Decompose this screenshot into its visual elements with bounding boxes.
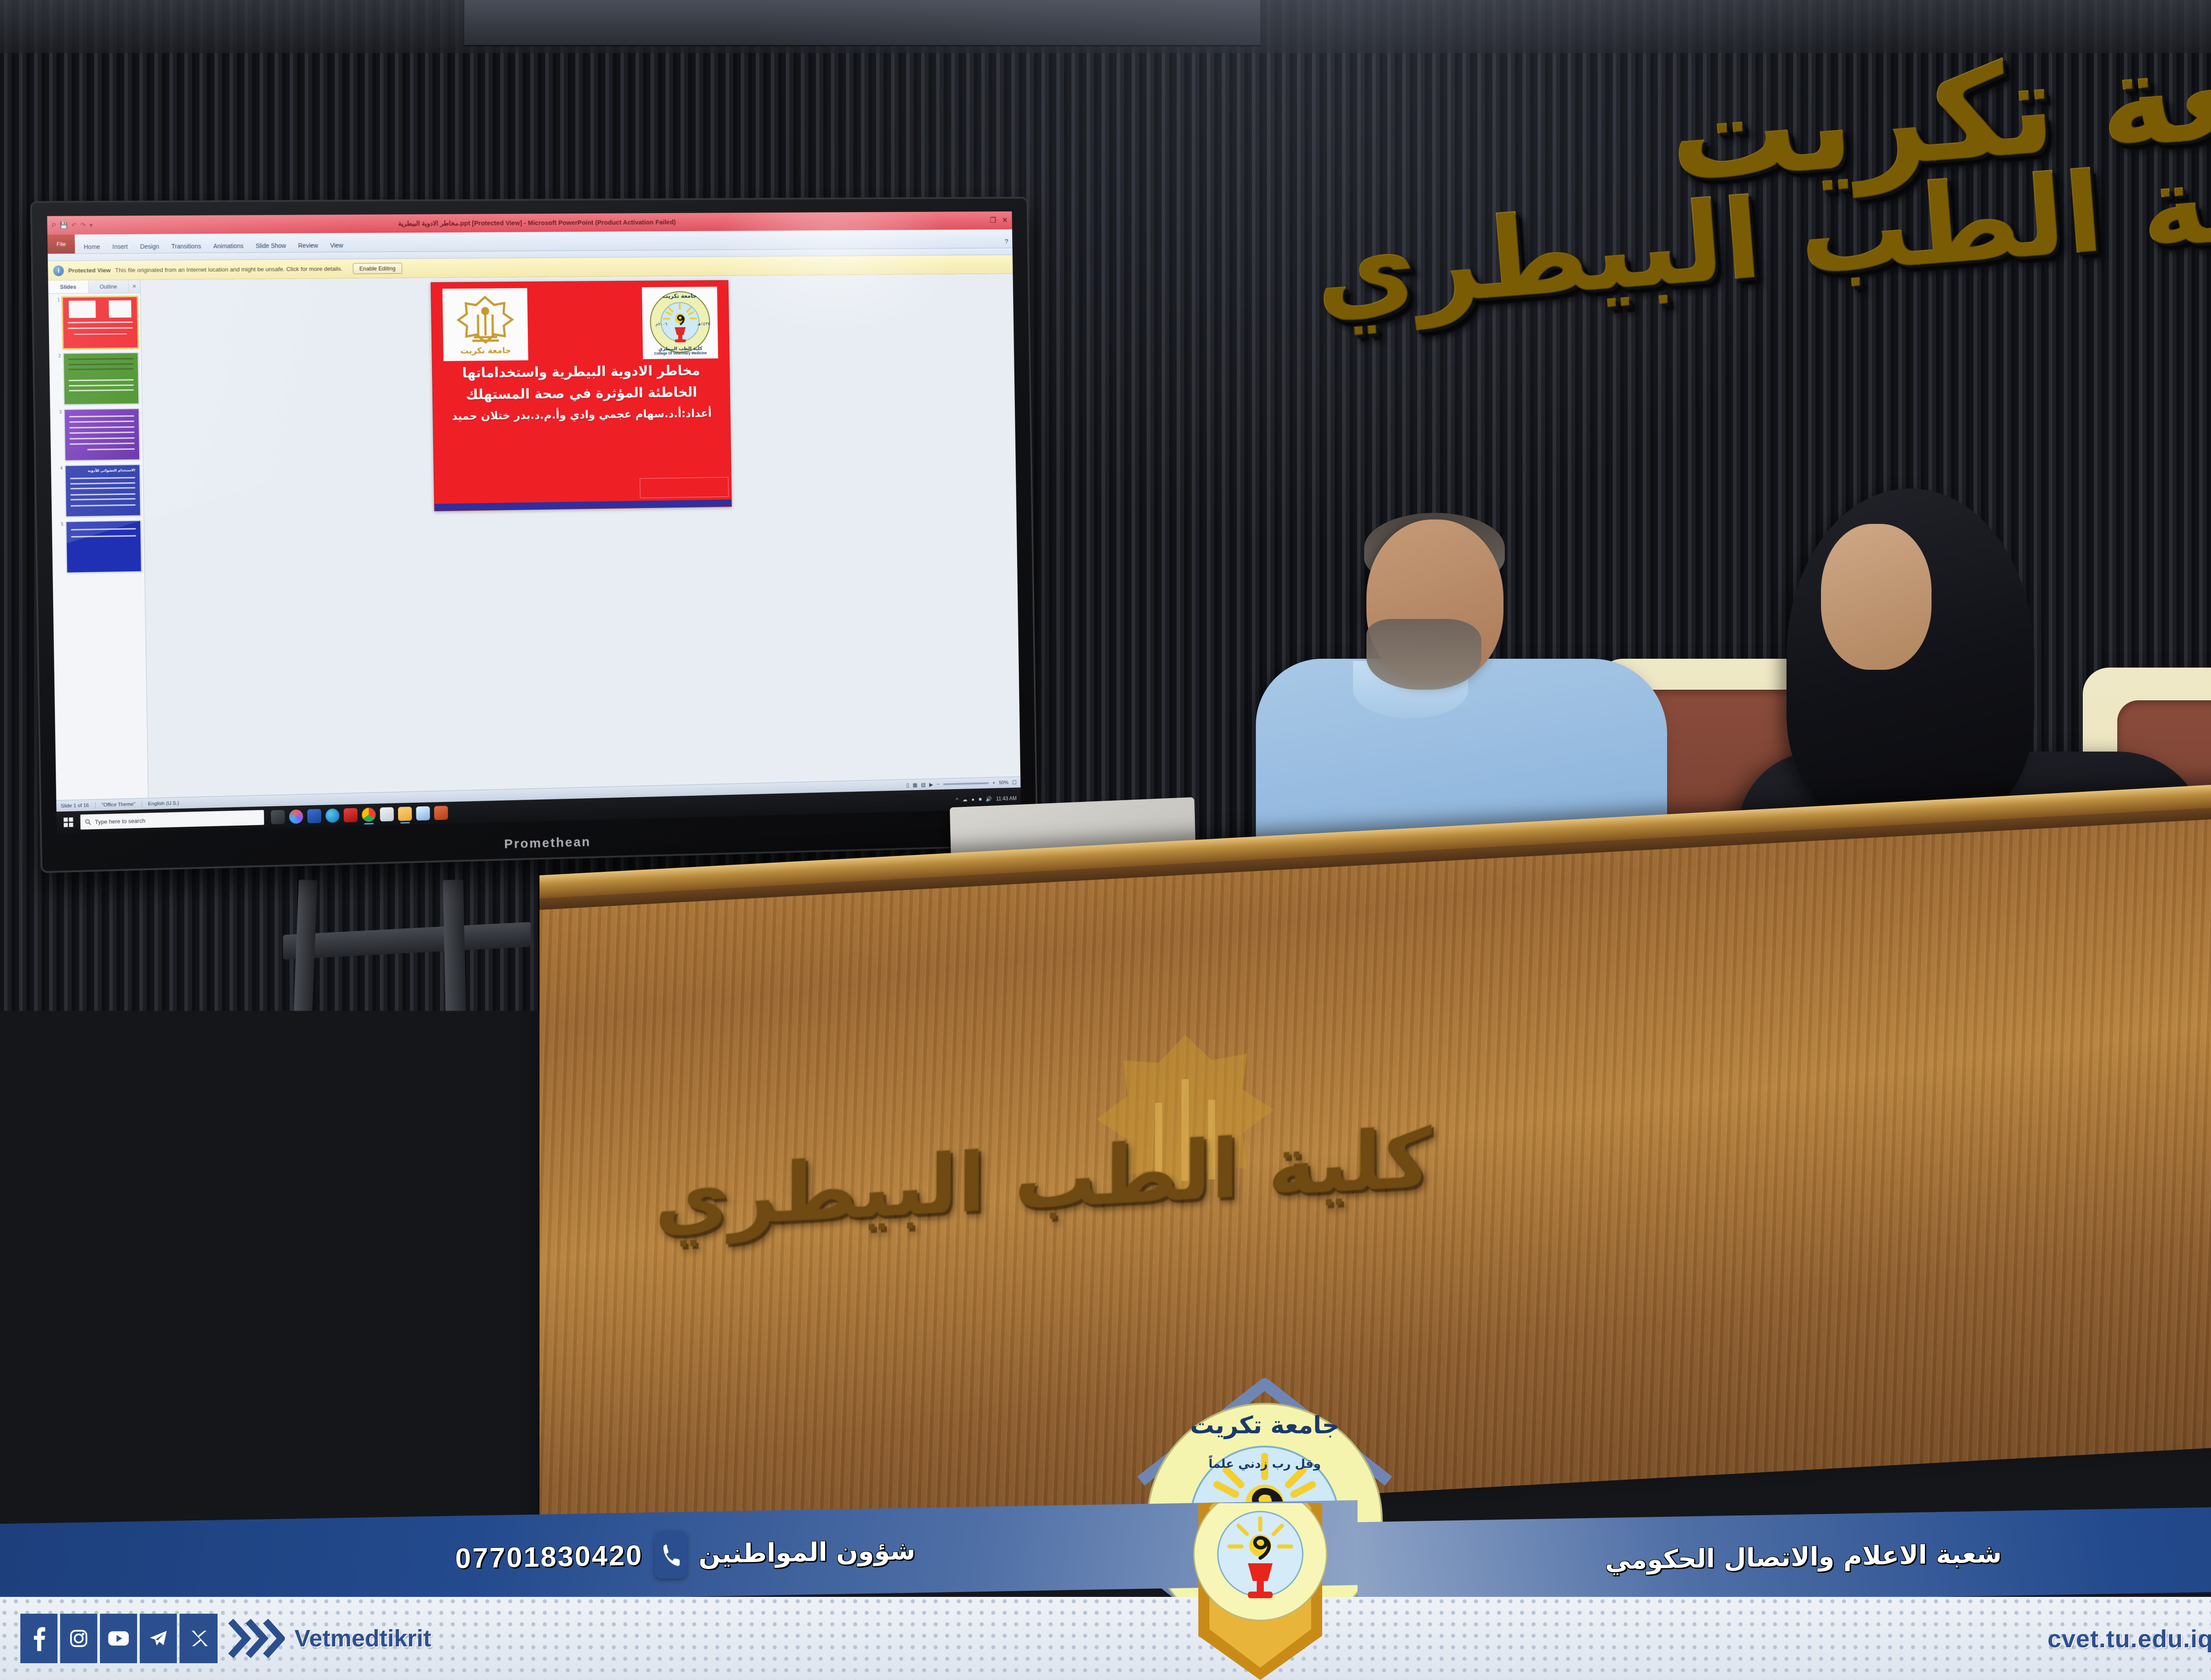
settings-app-icon[interactable]	[416, 806, 430, 821]
save-icon[interactable]: 💾	[60, 221, 68, 229]
tab-outline[interactable]: Outline	[88, 280, 129, 293]
store-icon[interactable]	[380, 807, 394, 821]
footer-seal	[1136, 1503, 1384, 1680]
tab-slide-show[interactable]: Slide Show	[254, 241, 288, 250]
help-icon[interactable]: ?	[1005, 238, 1012, 248]
seal-university-text: جامعة تكريت	[1190, 1411, 1339, 1439]
list-item[interactable]: 4 الاستخدام العشوائي للأدوية	[58, 464, 141, 517]
zoom-slider[interactable]	[943, 782, 989, 785]
ceiling-panel	[464, 0, 1260, 46]
slide-logo-row: جامعة تكريت	[431, 281, 729, 361]
promethean-display: P 💾 ↶ ↷ ▾ مخاطر الادوية البيطرية.ppt [Pr…	[30, 197, 1038, 873]
thumbnail-number: 4	[58, 465, 62, 471]
show-hidden-icons[interactable]: ^	[956, 797, 958, 803]
list-item[interactable]: 2	[56, 352, 139, 405]
facebook-icon[interactable]	[20, 1614, 58, 1663]
file-explorer-icon[interactable]	[398, 807, 412, 821]
antivirus-icon[interactable]: ●	[972, 796, 975, 802]
media-office-label: شعبة الاعلام والاتصال الحكومي	[1605, 1539, 2002, 1576]
phone-number[interactable]: 07701830420	[455, 1539, 643, 1574]
network-icon[interactable]: ■	[979, 796, 982, 802]
powerpoint-window[interactable]: P 💾 ↶ ↷ ▾ مخاطر الادوية البيطرية.ppt [Pr…	[47, 211, 1021, 834]
phone-icon	[654, 1531, 687, 1579]
normal-view-icon[interactable]: ▯	[907, 782, 909, 788]
task-view-icon[interactable]	[271, 810, 285, 825]
instagram-icon[interactable]	[60, 1614, 98, 1663]
thumbnail-slide-1[interactable]	[62, 296, 138, 349]
svg-text:College Of Veterinary Medicine: College Of Veterinary Medicine	[654, 351, 707, 355]
status-right-group[interactable]: ▯ ▦ ▤ ▶ − + 50% ☐	[907, 779, 1017, 788]
photo-scene: جامعة تكريت كلية الطب البيطري P 💾 ↶ ↷	[0, 0, 2211, 1680]
thumbnail-number: 1	[55, 297, 60, 303]
window-title: مخاطر الادوية البيطرية.ppt [Protected Vi…	[47, 217, 1012, 229]
thumbnail-slide-3[interactable]	[64, 408, 140, 461]
enable-editing-button[interactable]: Enable Editing	[353, 263, 402, 274]
powerpoint-workspace: Slides Outline × 1	[48, 274, 1021, 800]
svg-text:٢٠٠٦م: ٢٠٠٦م	[655, 322, 667, 327]
thumbnail-slide-4[interactable]: الاستخدام العشوائي للأدوية	[65, 464, 141, 517]
male-presenter-beard	[1366, 619, 1481, 690]
reading-view-icon[interactable]: ▤	[921, 782, 926, 788]
thumbnail-number: 3	[57, 409, 61, 415]
slide-thumbnail-pane[interactable]: Slides Outline × 1	[48, 280, 149, 800]
x-icon[interactable]	[180, 1614, 218, 1663]
word-icon[interactable]	[307, 809, 321, 823]
window-controls[interactable]: ❐ ✕	[990, 216, 1008, 225]
onedrive-icon[interactable]: ☁	[962, 797, 967, 803]
tab-transitions[interactable]: Transitions	[169, 242, 203, 251]
social-icons[interactable]	[20, 1614, 218, 1663]
tab-view[interactable]: View	[329, 241, 345, 250]
footer-bottom-row: Vetmedtikrit cvet.tu.edu.iq الموقع الرسم…	[0, 1597, 2211, 1680]
list-item[interactable]: 1	[55, 296, 138, 349]
quick-access-toolbar[interactable]: P 💾 ↶ ↷ ▾	[52, 221, 93, 229]
cortana-icon[interactable]	[289, 809, 303, 824]
chevron-down-icon[interactable]: ▾	[89, 221, 93, 229]
theme-name: "Office Theme"	[102, 802, 135, 808]
display-screen[interactable]: P 💾 ↶ ↷ ▾ مخاطر الادوية البيطرية.ppt [Pr…	[47, 211, 1021, 834]
tikrit-university-logo: جامعة تكريت	[442, 288, 528, 361]
slideshow-icon[interactable]: ▶	[929, 781, 933, 787]
thumbnail-slide-5[interactable]	[65, 520, 142, 573]
protected-view-label: Protected View	[68, 267, 111, 274]
veterinary-college-logo: جامعة تكريت كلية الطب البيطري College Of…	[642, 286, 718, 359]
info-shield-icon	[53, 265, 64, 276]
undo-icon[interactable]: ↶	[71, 221, 77, 229]
close-icon[interactable]: ✕	[1002, 216, 1008, 225]
zoom-out-icon[interactable]: −	[937, 782, 939, 787]
citizens-affairs-label: شؤون المواطنين	[699, 1535, 915, 1569]
svg-text:جامعة تكريت: جامعة تكريت	[460, 346, 511, 356]
wall-socket	[87, 1114, 127, 1157]
website-url[interactable]: cvet.tu.edu.iq	[2047, 1624, 2211, 1653]
tab-file[interactable]: File	[47, 234, 75, 253]
tab-slides[interactable]: Slides	[48, 280, 89, 294]
volume-icon[interactable]: 🔊	[986, 796, 992, 802]
footer-media-office: شعبة الاعلام والاتصال الحكومي	[1358, 1502, 2211, 1607]
search-placeholder: Type here to search	[95, 817, 145, 825]
footer-banner: 07701830420 شؤون المواطنين شعبة الاعلام …	[0, 1512, 2211, 1680]
fit-slide-icon[interactable]: ☐	[1012, 779, 1017, 786]
footer-social-group[interactable]: Vetmedtikrit	[0, 1597, 1229, 1680]
seal-motto: وقل رب زدني علماً	[1209, 1455, 1321, 1471]
slide-title-line-2: الخاطئة المؤثرة في صحة المستهلك	[460, 380, 703, 405]
tab-home[interactable]: Home	[82, 242, 102, 251]
svg-text:١٤٢٧هـ: ١٤٢٧هـ	[697, 322, 710, 327]
tab-animations[interactable]: Animations	[211, 241, 245, 250]
system-tray[interactable]: ^ ☁ ● ■ 🔊 11:43 AM	[956, 795, 1017, 803]
sorter-view-icon[interactable]: ▦	[913, 782, 917, 788]
slide-counter: Slide 1 of 16	[61, 803, 89, 809]
display-bezel: P 💾 ↶ ↷ ▾ مخاطر الادوية البيطرية.ppt [Pr…	[30, 197, 1038, 873]
slide-editing-area[interactable]: جامعة تكريت	[141, 274, 1021, 798]
cart-caster	[234, 1273, 265, 1307]
thumbnail-number: 5	[59, 521, 63, 527]
telegram-icon[interactable]	[140, 1614, 178, 1663]
protected-view-message: This file originated from an Internet lo…	[115, 265, 343, 273]
powerpoint-icon[interactable]	[434, 806, 448, 820]
search-input[interactable]: Type here to search	[80, 810, 264, 829]
current-slide[interactable]: جامعة تكريت	[431, 280, 732, 512]
restore-icon[interactable]: ❐	[990, 216, 996, 225]
zoom-in-icon[interactable]: +	[992, 780, 995, 786]
close-pane-icon[interactable]: ×	[129, 280, 140, 293]
search-icon	[85, 818, 92, 825]
social-handle[interactable]: Vetmedtikrit	[295, 1625, 431, 1652]
tab-insert[interactable]: Insert	[111, 242, 130, 251]
thumbnail-list[interactable]: 1 2	[48, 293, 148, 800]
redo-icon[interactable]: ↷	[80, 221, 86, 229]
thumbnail-heading: الاستخدام العشوائي للأدوية	[65, 468, 135, 473]
list-item[interactable]: 5	[59, 520, 142, 573]
taskbar-app-icons[interactable]	[271, 806, 448, 825]
start-icon[interactable]	[61, 815, 76, 830]
slide-bottom-bar	[435, 500, 731, 511]
list-item[interactable]: 3	[57, 408, 140, 461]
ribbon-tab-list[interactable]: Home Insert Design Transitions Animation…	[75, 241, 352, 254]
language-indicator[interactable]: English (U.S.)	[148, 801, 179, 807]
slide-pane-tabs[interactable]: Slides Outline ×	[48, 280, 140, 294]
edge-icon[interactable]	[325, 809, 340, 823]
youtube-icon[interactable]	[100, 1614, 138, 1663]
thumbnail-slide-2[interactable]	[63, 352, 139, 405]
thumbnail-number: 2	[56, 353, 61, 359]
svg-text:جامعة تكريت: جامعة تكريت	[662, 293, 697, 300]
slide-title-line-1: مخاطر الادوية البيطرية واستخداماتها	[456, 359, 706, 383]
power-plug	[91, 1155, 104, 1234]
female-presenter-face	[1821, 524, 1932, 670]
slide-authors: أعداد:أ.د.سهام عجمي وادي وأ.م.د.بدر ختلا…	[448, 401, 716, 422]
powerpoint-logo-icon: P	[52, 221, 56, 229]
tab-design[interactable]: Design	[138, 242, 161, 251]
chevron-right-icon	[227, 1617, 285, 1660]
chrome-icon[interactable]	[362, 808, 376, 822]
acrobat-icon[interactable]	[344, 808, 358, 822]
slide-placeholder-frame[interactable]	[640, 477, 729, 498]
tab-review[interactable]: Review	[296, 241, 320, 250]
zoom-level: 50%	[999, 780, 1009, 785]
footer-top-row: 07701830420 شؤون المواطنين شعبة الاعلام …	[0, 1512, 2211, 1597]
clock[interactable]: 11:43 AM	[996, 795, 1017, 802]
